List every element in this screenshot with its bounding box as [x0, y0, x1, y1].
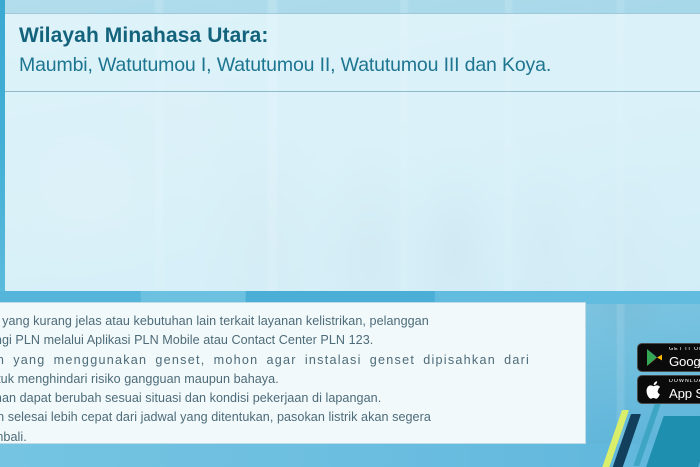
diagonal-decoration — [596, 404, 700, 467]
footer-strip — [0, 444, 700, 467]
notice-line: u pemadaman dapat berubah sesuai situasi… — [0, 389, 573, 408]
page-title: Wilayah Minahasa Utara: — [19, 22, 694, 50]
left-accent-bar — [0, 0, 5, 292]
badge-kicker: Download on the — [669, 379, 700, 384]
heading-block: Wilayah Minahasa Utara: Maumbi, Watutumo… — [19, 22, 694, 80]
badge-kicker: GET IT ON — [669, 347, 700, 352]
google-play-badge[interactable]: GET IT ON Google Play — [637, 343, 700, 372]
google-play-badge-text: GET IT ON Google Play — [669, 347, 700, 368]
notice-line: pelanggan yang menggunakan genset, mohon… — [0, 351, 573, 370]
page-subtitle: Maumbi, Watutumou I, Watutumou II, Watut… — [19, 50, 694, 80]
app-store-badge[interactable]: Download on the App Store — [637, 375, 700, 404]
notice-line: menghubungi PLN melalui Aplikasi PLN Mob… — [0, 331, 573, 350]
apple-icon — [644, 379, 664, 400]
notice-line: malkan kembali. — [0, 428, 573, 444]
notice-line: asi PLN untuk menghindari risiko ganggua… — [0, 370, 573, 389]
badge-name: App Store — [669, 387, 700, 400]
notice-line: la pekerjaan selesai lebih cepat dari ja… — [0, 408, 573, 427]
heading-divider — [5, 91, 700, 92]
app-store-badge-text: Download on the App Store — [669, 379, 700, 400]
notice-panel: erdapat hal yang kurang jelas atau kebut… — [0, 302, 586, 444]
notice-line: erdapat hal yang kurang jelas atau kebut… — [0, 312, 573, 331]
google-play-icon — [644, 347, 664, 368]
badge-name: Google Play — [669, 355, 700, 368]
slide-canvas: Wilayah Minahasa Utara: Maumbi, Watutumo… — [0, 0, 700, 467]
